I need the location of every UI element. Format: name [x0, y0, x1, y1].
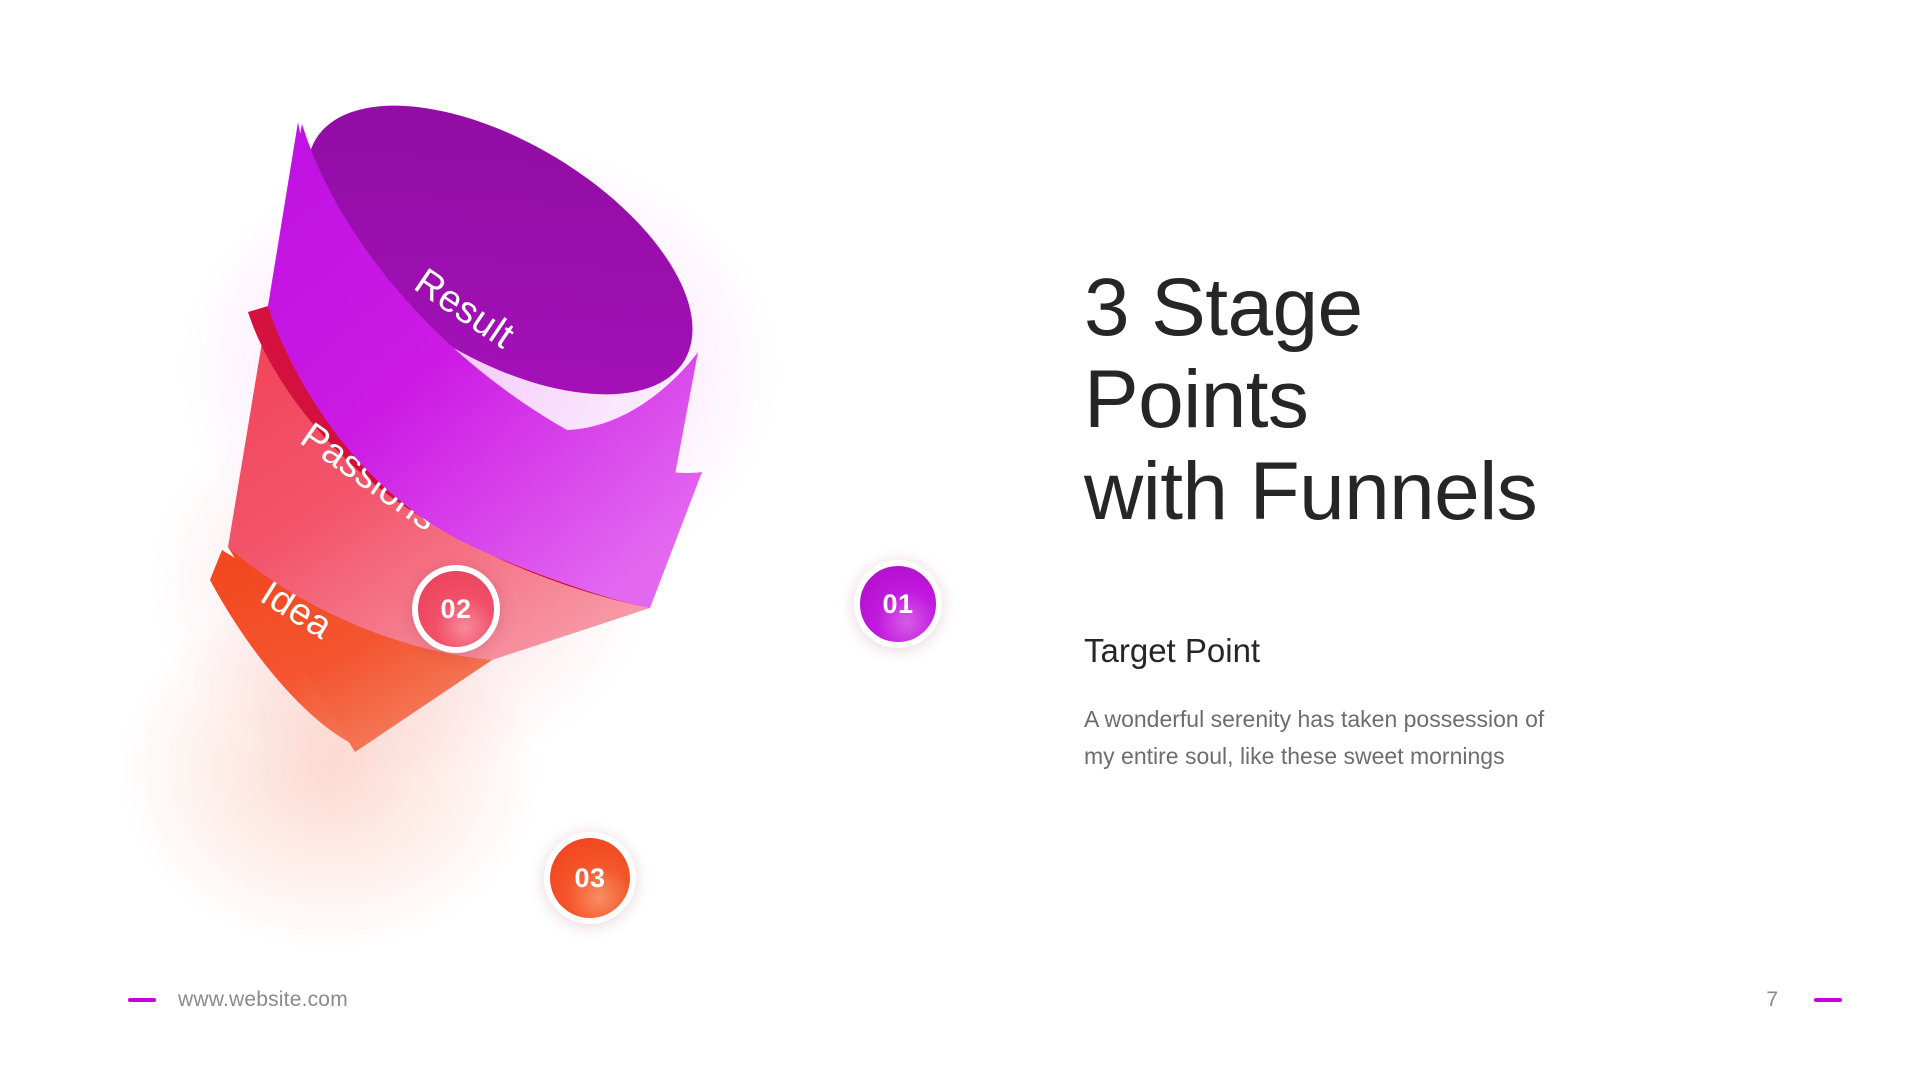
badge-02-number: 02: [440, 594, 471, 625]
funnel-badge-03[interactable]: 03: [544, 832, 636, 924]
badge-03-number: 03: [574, 863, 605, 894]
funnel-diagram: Idea Passions Result 01 02: [150, 80, 910, 940]
dash-icon: [128, 998, 156, 1002]
funnel-badge-01[interactable]: 01: [854, 560, 942, 648]
website-url[interactable]: www.website.com: [178, 988, 348, 1012]
dash-icon-right: [1814, 998, 1842, 1002]
body-paragraph: A wonderful serenity has taken possessio…: [1084, 671, 1554, 776]
funnel-badge-02[interactable]: 02: [412, 565, 500, 653]
footer-left: www.website.com: [128, 988, 348, 1012]
content-column: 3 Stage Points with Funnels Target Point…: [1084, 262, 1724, 776]
funnel-svg: Idea Passions Result: [150, 80, 910, 940]
page-number: 7: [1766, 988, 1778, 1012]
slide-canvas: Idea Passions Result 01 02: [0, 0, 1920, 1080]
section-subtitle: Target Point: [1084, 537, 1724, 671]
badge-01-number: 01: [882, 589, 913, 620]
footer-right: 7: [1766, 988, 1842, 1012]
page-title: 3 Stage Points with Funnels: [1084, 262, 1724, 537]
